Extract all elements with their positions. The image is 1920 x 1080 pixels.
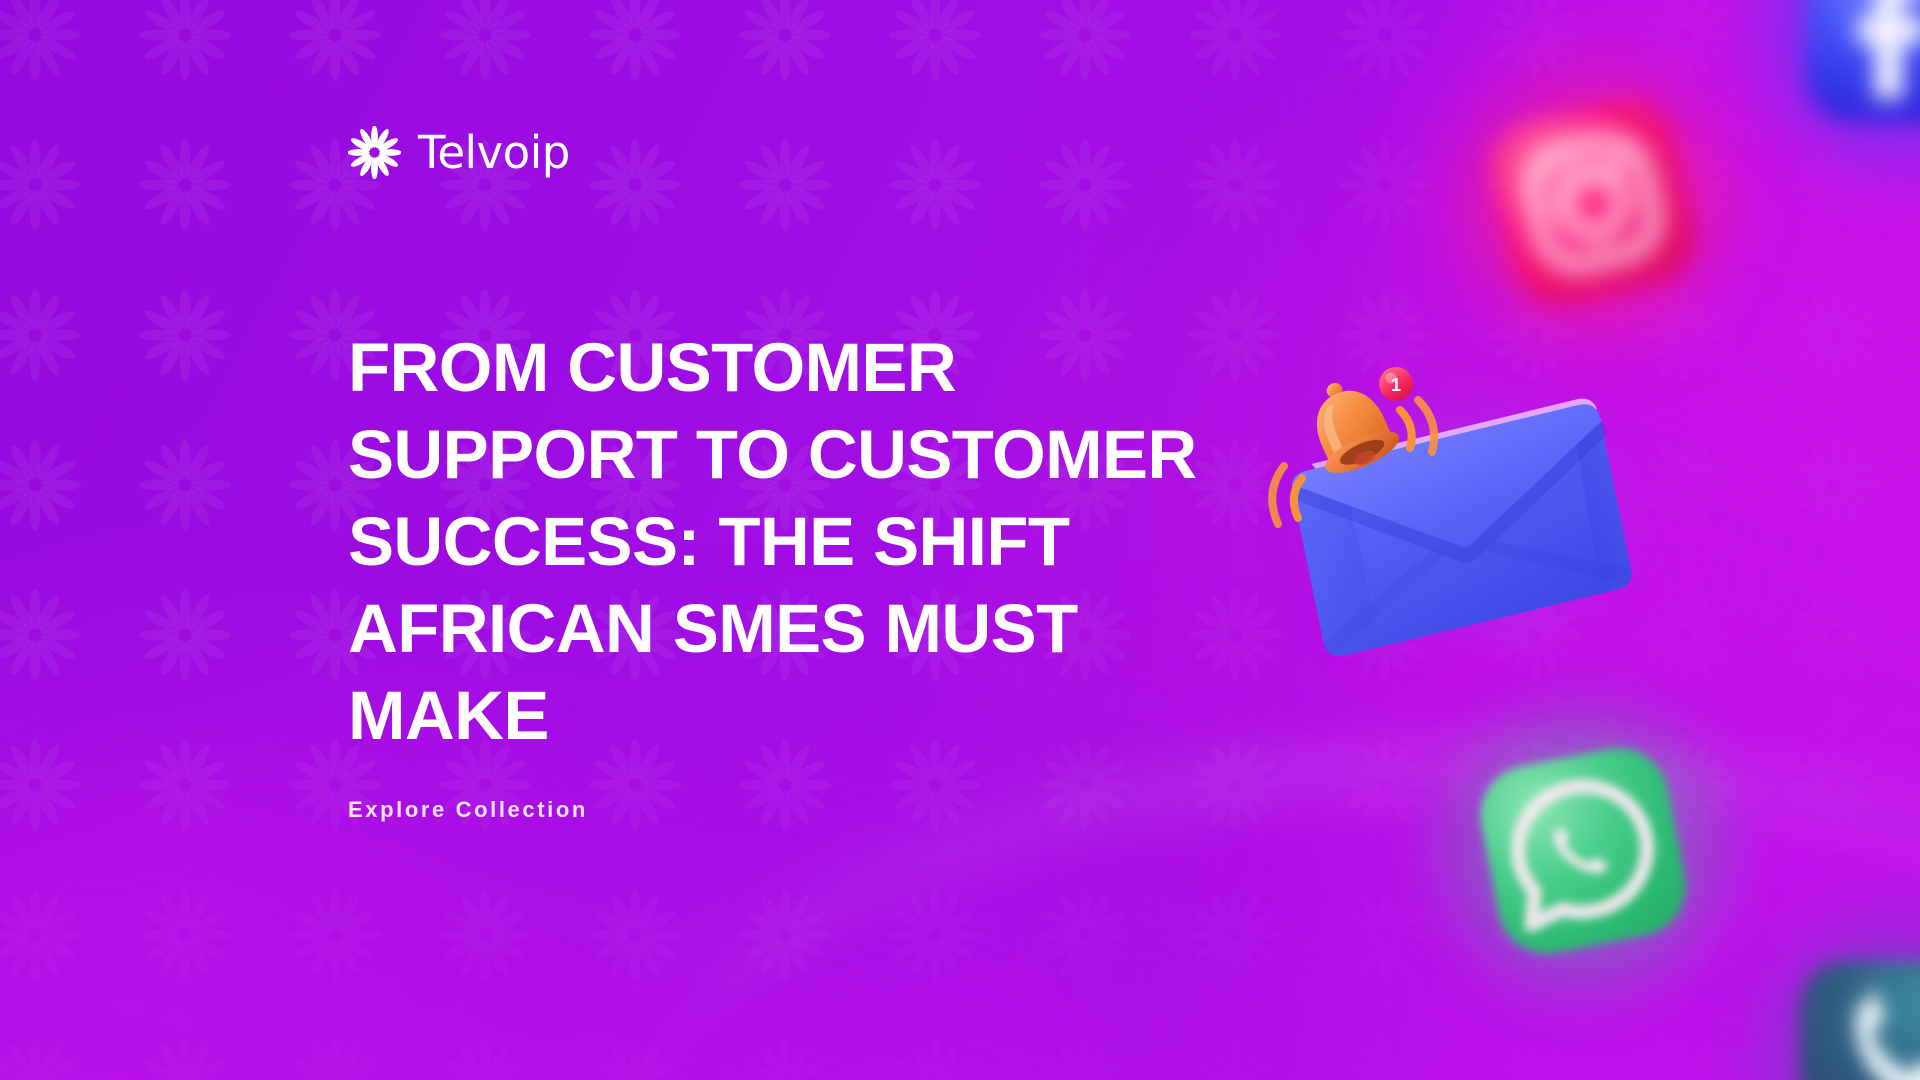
facebook-icon [1806,0,1920,122]
headline-line: SUPPORT TO CUSTOMER [348,411,1348,498]
instagram-icon [1500,110,1686,296]
headline-line: MAKE [348,672,1348,759]
brand-logo[interactable]: Telvoip [348,126,570,179]
phone-glyph [1800,960,1920,1080]
notification-badge-count: 1 [1391,375,1401,395]
headline-line: FROM CUSTOMER [348,324,1348,411]
facebook-glyph [1806,0,1920,122]
whatsapp-icon-body [1472,740,1695,963]
phone-icon [1800,960,1920,1080]
phone-icon-body [1800,960,1920,1080]
explore-collection-link[interactable]: Explore Collection [348,797,588,823]
hero-banner: Telvoip [0,0,1920,1080]
headline-line: AFRICAN SMES MUST [348,585,1348,672]
hero-headline: FROM CUSTOMER SUPPORT TO CUSTOMER SUCCES… [348,324,1348,759]
brand-name: Telvoip [418,130,570,175]
headline-line: SUCCESS: THE SHIFT [348,498,1348,585]
notification-badge: 1 [1379,367,1413,401]
whatsapp-icon [1488,756,1678,946]
whatsapp-glyph [1472,740,1695,963]
starburst-icon [348,126,401,179]
facebook-icon-body [1806,0,1920,122]
